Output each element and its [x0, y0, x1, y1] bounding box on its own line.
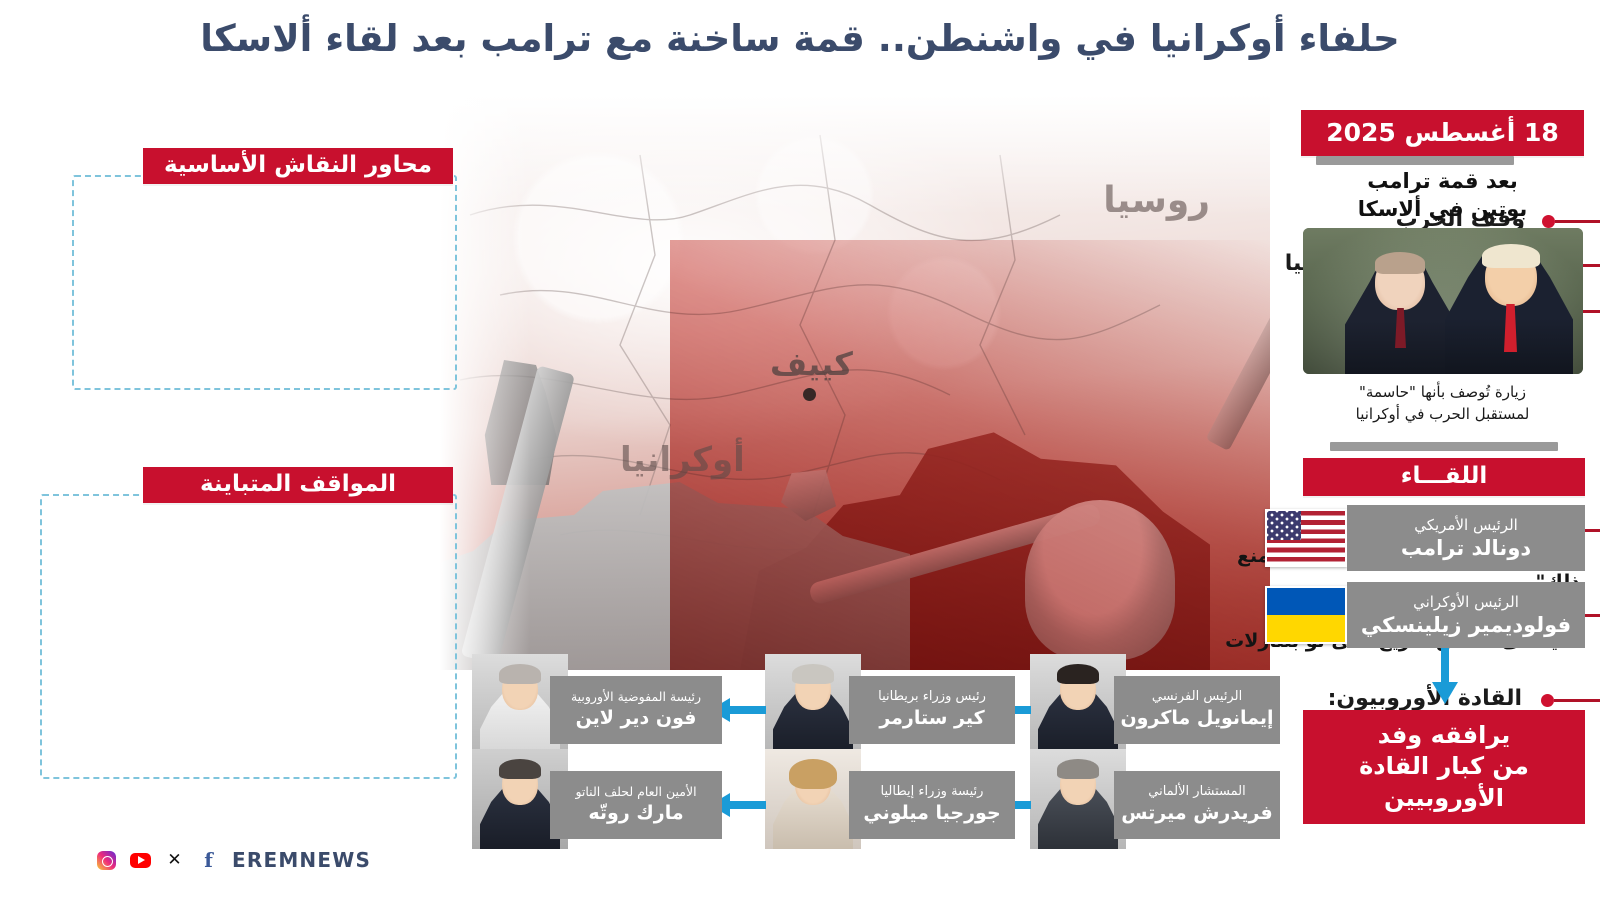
divider-rule-bottom: [1330, 442, 1558, 451]
leader-card-starmer: رئيس وزراء بريطانيا كير ستارمر: [765, 676, 1015, 754]
rutte-role: الأمين العام لحلف الناتو: [575, 785, 696, 799]
participant-zelensky: الرئيس الأوكراني فولوديمير زيلينسكي: [1265, 582, 1585, 654]
ukraine-flag-blue: [1267, 588, 1345, 615]
map-label-kyiv: كييف: [770, 345, 853, 383]
leader-card-meloni: رئيسة وزراء إيطاليا جورجيا ميلوني: [765, 771, 1015, 849]
ukraine-flag-yellow: [1267, 615, 1345, 642]
date-badge: 18 أغسطس 2025: [1301, 110, 1584, 156]
macron-name: إيمانويل ماكرون: [1120, 707, 1273, 730]
meloni-portrait: [765, 749, 861, 849]
kyiv-marker-dot: [803, 388, 816, 401]
positions-panel-heading: المواقف المتباينة: [143, 467, 453, 503]
putin-hair: [1375, 252, 1425, 274]
merz-label: المستشار الألماني فريدرش ميرتس: [1114, 771, 1280, 839]
x-twitter-icon[interactable]: ✕: [164, 850, 185, 871]
rutte-label: الأمين العام لحلف الناتو مارك روتّه: [550, 771, 722, 839]
rutte-name: مارك روتّه: [588, 802, 683, 825]
brand-logo: EREMNEWS: [232, 848, 371, 872]
meloni-role: رئيسة وزراء إيطاليا: [881, 785, 984, 800]
meloni-label: رئيسة وزراء إيطاليا جورجيا ميلوني: [849, 771, 1015, 839]
portrait-hair: [1057, 759, 1099, 779]
vonderleyen-name: فون دير لاين: [576, 707, 697, 730]
delegation-note: يرافقه وفد من كبار القادة الأوروبيين: [1303, 710, 1585, 824]
divider-rule-top: [1316, 156, 1514, 165]
participant-zelensky-name: فولوديمير زيلينسكي: [1361, 613, 1571, 637]
merz-portrait: [1030, 749, 1126, 849]
starmer-portrait: [765, 654, 861, 754]
photo-caption: زيارة تُوصف بأنها "حاسمة" لمستقبل الحرب …: [1296, 382, 1589, 426]
background-collage: روسيا كييف أوكرانيا: [440, 95, 1270, 670]
position-item-3-title: القادة الأوروبيون:: [1328, 685, 1522, 713]
leader-card-macron: الرئيس الفرنسي إيمانويل ماكرون: [1030, 676, 1280, 754]
participant-trump-role: الرئيس الأمريكي: [1414, 516, 1518, 534]
axes-panel-box: [72, 175, 457, 390]
footer: EREMNEWS f ✕: [96, 848, 371, 872]
page-title: حلفاء أوكرانيا في واشنطن.. قمة ساخنة مع …: [0, 16, 1600, 62]
meloni-name: جورجيا ميلوني: [863, 802, 1000, 825]
down-arrow-icon: [1428, 648, 1462, 704]
participant-zelensky-label: الرئيس الأوكراني فولوديمير زيلينسكي: [1347, 582, 1585, 648]
trump-hair: [1482, 244, 1540, 268]
red-tint-overlay: [670, 240, 1270, 670]
participant-trump-label: الرئيس الأمريكي دونالد ترامب: [1347, 505, 1585, 571]
ukraine-flag-icon: [1265, 586, 1347, 644]
us-flag-stars: [1267, 511, 1301, 540]
summit-subheading: بعد قمة ترامب بوتين في ألاسكا: [1296, 168, 1589, 223]
vonderleyen-label: رئيسة المفوضية الأوروبية فون دير لاين: [550, 676, 722, 744]
positions-panel-box: [40, 494, 457, 779]
starmer-label: رئيس وزراء بريطانيا كير ستارمر: [849, 676, 1015, 744]
starmer-role: رئيس وزراء بريطانيا: [878, 690, 986, 705]
leader-card-vonderleyen: رئيسة المفوضية الأوروبية فون دير لاين: [472, 676, 722, 754]
putin-trump-photo: [1303, 228, 1583, 374]
meeting-heading: اللقـــاء: [1303, 458, 1585, 496]
map-label-ukraine: أوكرانيا: [620, 440, 745, 480]
merz-name: فريدرش ميرتس: [1121, 802, 1272, 825]
instagram-icon[interactable]: [96, 850, 117, 871]
portrait-hair: [499, 759, 541, 779]
bullet-dot: [1541, 694, 1554, 707]
axes-panel-heading: محاور النقاش الأساسية: [143, 148, 453, 184]
macron-portrait: [1030, 654, 1126, 754]
infographic-root: روسيا كييف أوكرانيا حلفاء أوكرانيا في وا…: [0, 0, 1600, 900]
portrait-hair: [789, 759, 837, 789]
map-label-russia: روسيا: [1103, 180, 1210, 221]
vonderleyen-role: رئيسة المفوضية الأوروبية: [571, 690, 701, 704]
leader-card-rutte: الأمين العام لحلف الناتو مارك روتّه: [472, 771, 722, 849]
portrait-hair: [1057, 664, 1099, 684]
us-flag-icon: [1265, 509, 1347, 567]
macron-label: الرئيس الفرنسي إيمانويل ماكرون: [1114, 676, 1280, 744]
leader-card-merz: المستشار الألماني فريدرش ميرتس: [1030, 771, 1280, 849]
macron-role: الرئيس الفرنسي: [1152, 690, 1242, 705]
participant-trump-name: دونالد ترامب: [1401, 536, 1531, 560]
participant-zelensky-role: الرئيس الأوكراني: [1413, 593, 1519, 611]
youtube-icon[interactable]: [130, 850, 151, 871]
facebook-icon[interactable]: f: [198, 850, 219, 871]
bullet-connector: [1554, 699, 1600, 702]
merz-role: المستشار الألماني: [1148, 785, 1246, 800]
starmer-name: كير ستارمر: [879, 707, 984, 730]
portrait-hair: [792, 664, 834, 684]
portrait-hair: [499, 664, 541, 684]
participant-trump: الرئيس الأمريكي دونالد ترامب: [1265, 505, 1585, 577]
